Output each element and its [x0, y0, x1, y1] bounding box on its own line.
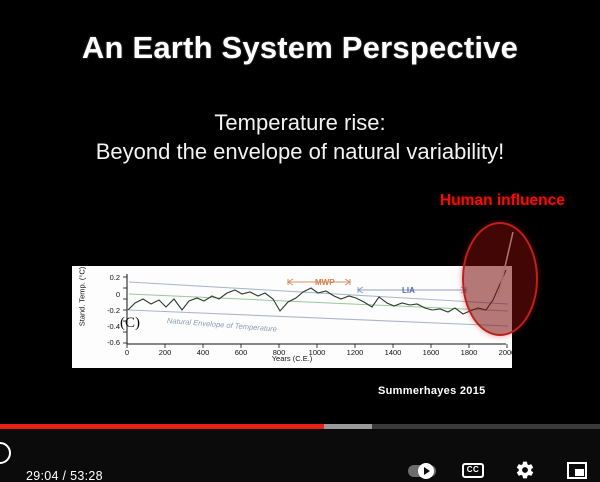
autoplay-toggle[interactable]	[408, 457, 434, 482]
temperature-chart: 0.2 0 -0.2 -0.4 -0.6 0 200 400 600 800 1…	[72, 266, 512, 368]
time-display: 29:04 / 53:28	[26, 469, 103, 482]
mwp-label: MWP	[315, 278, 335, 287]
x-axis-label: Years (C.E.)	[72, 354, 512, 363]
panel-label: (C)	[120, 315, 140, 332]
player-controls-bar: 29:04 / 53:28 CC	[0, 424, 600, 482]
captions-button[interactable]: CC	[460, 457, 486, 482]
source-credit: Summerhayes 2015	[378, 385, 486, 397]
right-controls-group: CC	[408, 457, 590, 482]
miniplayer-button[interactable]	[564, 457, 590, 482]
lia-label: LIA	[402, 286, 415, 295]
settings-button[interactable]	[512, 457, 538, 482]
page-title: An Earth System Perspective	[0, 30, 600, 66]
miniplayer-icon	[567, 462, 587, 479]
gear-icon	[515, 460, 535, 480]
cc-icon: CC	[462, 463, 484, 478]
slide-subtitle-line-2: Beyond the envelope of natural variabili…	[0, 139, 600, 165]
video-player-stage: An Earth System Perspective Temperature …	[0, 0, 600, 482]
y-axis-label: Stand. Temp. (°C)	[78, 266, 87, 332]
slide-subtitle-line-1: Temperature rise:	[0, 110, 600, 136]
play-pause-button[interactable]	[0, 442, 11, 464]
human-influence-annotation: Human influence	[440, 192, 600, 210]
slide-video-frame[interactable]: An Earth System Perspective Temperature …	[0, 0, 600, 424]
y-tick-label: -0.6	[72, 338, 120, 347]
progress-bar-scrubber[interactable]	[0, 420, 600, 433]
autoplay-knob-play-icon	[418, 463, 434, 479]
